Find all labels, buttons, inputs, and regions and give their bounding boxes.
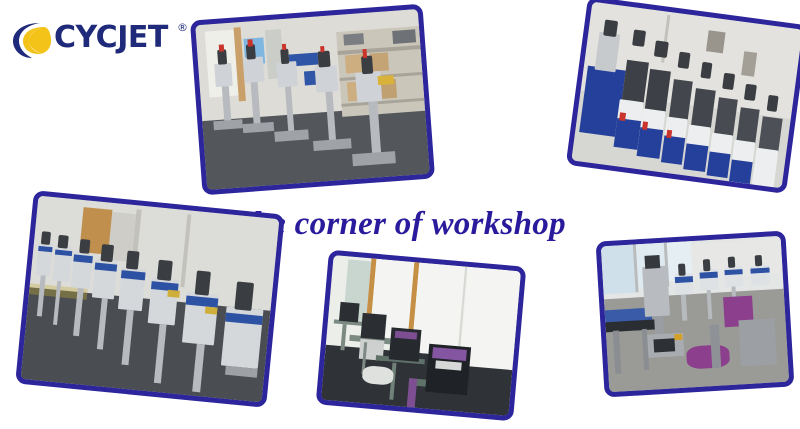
page-title: the corner of workshop bbox=[243, 206, 623, 243]
workshop-gallery-page: CYCJET ® the corner of workshop bbox=[0, 0, 800, 429]
photo-scene bbox=[321, 255, 521, 416]
gallery-photo-conveyor-line bbox=[596, 231, 795, 398]
gallery-photo-fiber-laser-row bbox=[566, 0, 800, 194]
gallery-photo-workshop-machines-shelves bbox=[190, 4, 435, 196]
photo-scene bbox=[601, 236, 789, 392]
registered-trademark-icon: ® bbox=[177, 21, 188, 34]
gallery-photo-assembly-hall-row bbox=[15, 190, 285, 408]
photo-scene bbox=[21, 196, 280, 403]
brand-wordmark: CYCJET bbox=[54, 21, 168, 55]
photo-scene bbox=[571, 2, 800, 189]
cycjet-crescent-logo-icon bbox=[10, 20, 56, 60]
gallery-photo-inkjet-printers-windows bbox=[316, 250, 527, 422]
brand-logo: CYCJET ® bbox=[10, 18, 195, 66]
photo-scene bbox=[195, 9, 429, 190]
